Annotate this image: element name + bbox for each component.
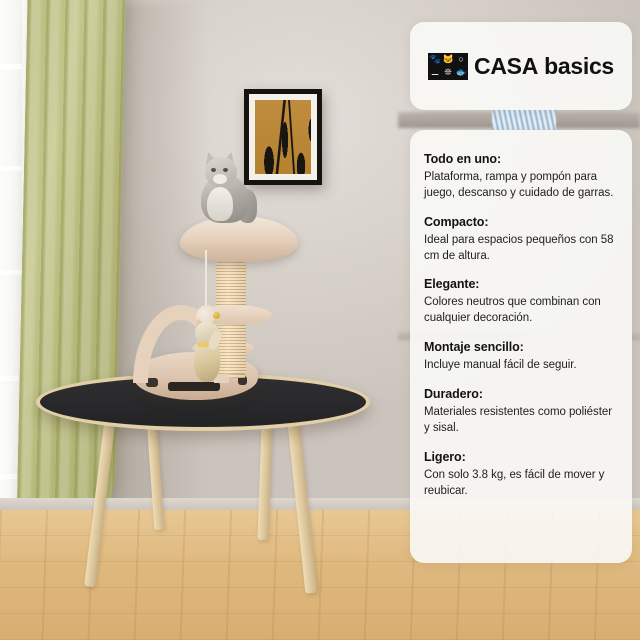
feature-heading: Montaje sencillo: (424, 340, 616, 354)
infographic-canvas: 🐾 🐱 ○ ⚊ ❊ 🐟 CASA basics Todo en uno: Pla… (0, 0, 640, 640)
feature-heading: Duradero: (424, 387, 616, 401)
brand-logo: 🐾 🐱 ○ ⚊ ❊ 🐟 CASA basics (428, 53, 614, 80)
art-image (255, 100, 311, 174)
feature-body: Con solo 3.8 kg, es fácil de mover y reu… (424, 468, 616, 500)
feature-item: Elegante: Colores neutros que combinan c… (424, 277, 616, 327)
grey-tabby-cat (195, 155, 255, 223)
brand-name-secondary: basics (538, 53, 614, 79)
feature-item: Compacto: Ideal para espacios pequeños c… (424, 215, 616, 265)
feature-body: Colores neutros que combinan con cualqui… (424, 295, 616, 327)
cat-eye-left (211, 168, 216, 172)
feature-item: Ligero: Con solo 3.8 kg, es fácil de mov… (424, 450, 616, 500)
features-card: Todo en uno: Plataforma, rampa y pompón … (410, 130, 632, 563)
feature-body: Incluye manual fácil de seguir. (424, 358, 616, 374)
framed-abstract-art (244, 89, 322, 185)
art-mat (249, 94, 317, 180)
feature-item: Todo en uno: Plataforma, rampa y pompón … (424, 152, 616, 202)
feature-body: Ideal para espacios pequeños con 58 cm d… (424, 233, 616, 265)
paw-print-icon: ❊ (442, 67, 454, 79)
cat-icon: 🐱 (442, 54, 454, 66)
feature-body: Plataforma, rampa y pompón para juego, d… (424, 170, 616, 202)
kitten-playing (186, 318, 226, 384)
feature-body: Materiales resistentes como poliéster y … (424, 405, 616, 437)
cat-muzzle (213, 174, 227, 184)
toy-string (205, 250, 207, 312)
feature-heading: Compacto: (424, 215, 616, 229)
cat-chest (207, 187, 233, 221)
logo-mark-grid: 🐾 🐱 ○ ⚊ ❊ 🐟 (428, 53, 468, 80)
feature-item: Montaje sencillo: Incluye manual fácil d… (424, 340, 616, 374)
feature-item: Duradero: Materiales resistentes como po… (424, 387, 616, 437)
feature-heading: Ligero: (424, 450, 616, 464)
cat-eye-right (223, 168, 228, 172)
background-books (492, 108, 556, 130)
paw-icon: 🐾 (429, 54, 441, 66)
feature-heading: Todo en uno: (424, 152, 616, 166)
feature-heading: Elegante: (424, 277, 616, 291)
brand-name-primary: CASA (474, 53, 538, 79)
brand-wordmark: CASA basics (474, 53, 614, 80)
logo-card: 🐾 🐱 ○ ⚊ ❊ 🐟 CASA basics (410, 22, 632, 110)
bone-icon: ⚊ (429, 67, 441, 79)
collar-icon: ○ (455, 54, 467, 66)
fish-icon: 🐟 (455, 67, 467, 79)
